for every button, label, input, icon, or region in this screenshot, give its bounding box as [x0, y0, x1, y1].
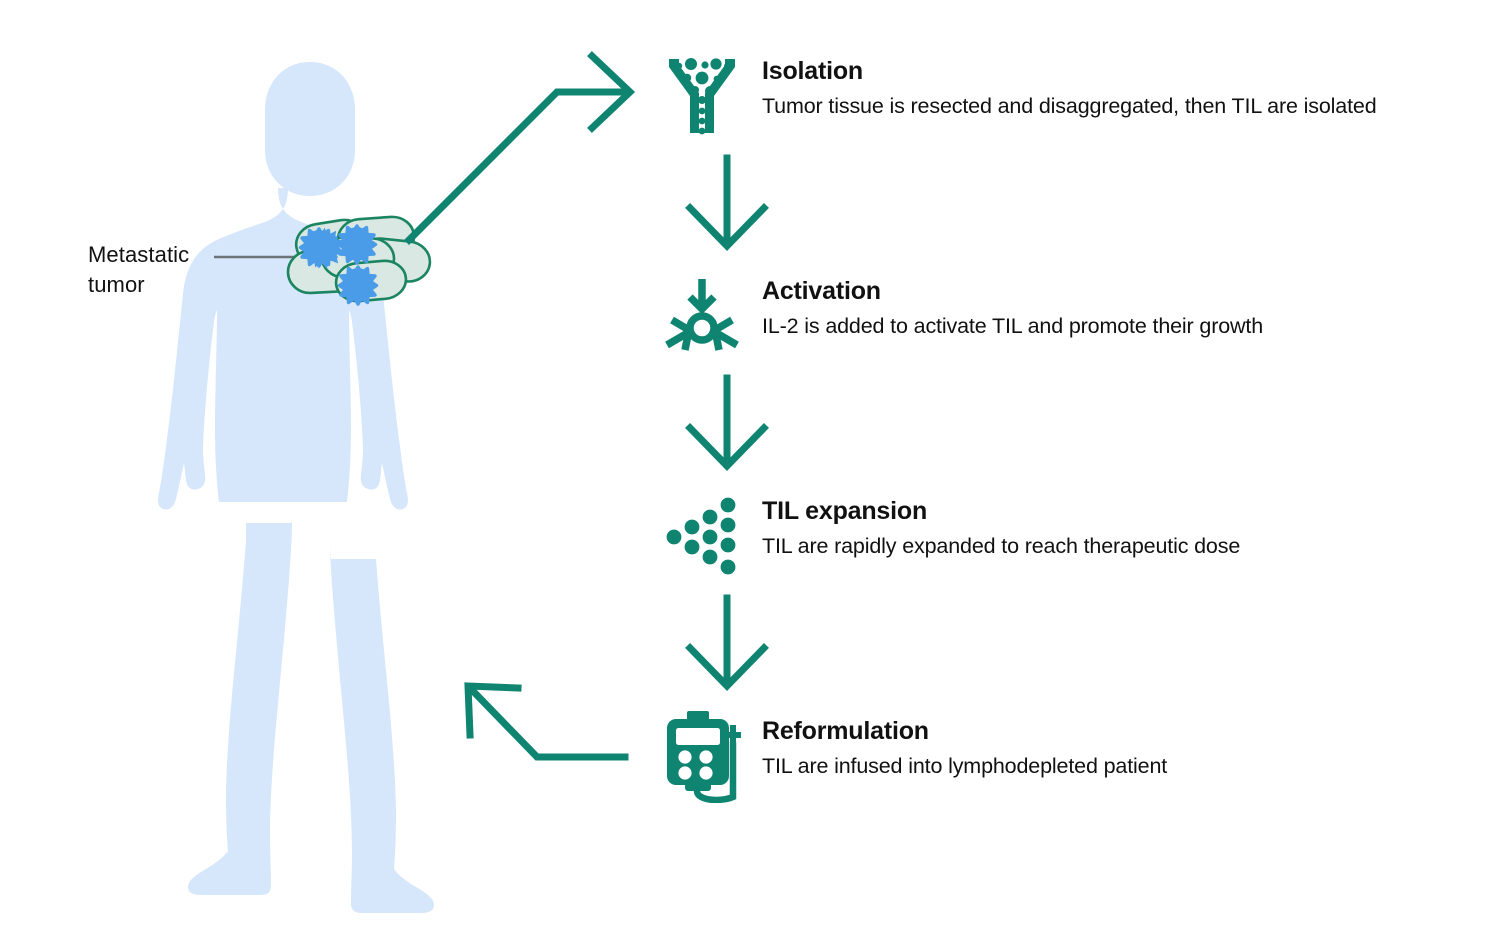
patient-panel: Metastatic tumor	[0, 0, 660, 941]
step-expansion: TIL expansion TIL are rapidly expanded t…	[650, 488, 1501, 598]
process-steps: Isolation Tumor tissue is resected and d…	[650, 0, 1501, 941]
step-title: Isolation	[762, 56, 1377, 86]
step-isolation: Isolation Tumor tissue is resected and d…	[650, 48, 1501, 158]
step-activation: Activation IL-2 is added to activate TIL…	[650, 268, 1501, 378]
til-therapy-diagram: Metastatic tumor	[0, 0, 1501, 941]
metastatic-tumor-callout: Metastatic tumor	[88, 240, 268, 300]
callout-line-2: tumor	[88, 270, 268, 300]
step-title: Reformulation	[762, 716, 1167, 746]
step-description: IL-2 is added to activate TIL and promot…	[762, 312, 1263, 340]
infusion-pump-icon	[650, 708, 754, 804]
patient-silhouette	[0, 0, 660, 941]
step-expansion-text: TIL expansion TIL are rapidly expanded t…	[754, 488, 1240, 560]
step-description: Tumor tissue is resected and disaggregat…	[762, 92, 1377, 120]
expanding-cells-icon	[650, 488, 754, 584]
step-description: TIL are rapidly expanded to reach therap…	[762, 532, 1240, 560]
callout-line-1: Metastatic	[88, 240, 268, 270]
arrow-down-icon	[672, 592, 782, 702]
step-activation-text: Activation IL-2 is added to activate TIL…	[754, 268, 1263, 340]
receptor-activation-icon	[650, 268, 754, 364]
step-isolation-text: Isolation Tumor tissue is resected and d…	[754, 48, 1377, 120]
arrow-down-icon	[672, 152, 782, 262]
step-reformulation: Reformulation TIL are infused into lymph…	[650, 708, 1501, 818]
arrow-down-icon	[672, 372, 782, 482]
step-reformulation-text: Reformulation TIL are infused into lymph…	[754, 708, 1167, 780]
step-title: TIL expansion	[762, 496, 1240, 526]
step-title: Activation	[762, 276, 1263, 306]
step-description: TIL are infused into lymphodepleted pati…	[762, 752, 1167, 780]
funnel-icon	[650, 48, 754, 144]
